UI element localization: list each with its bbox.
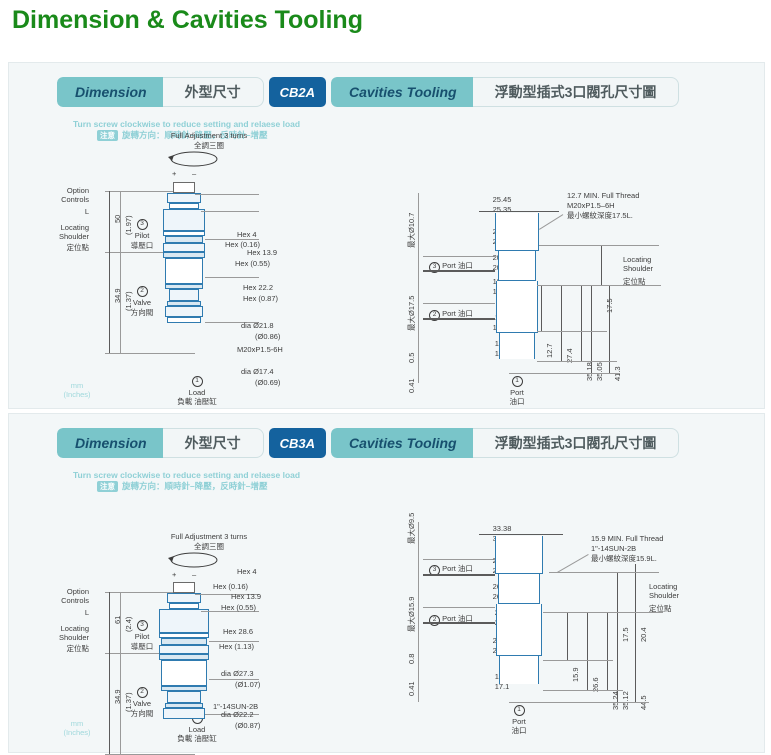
tab-group-dimension-cb3a[interactable]: Dimension 外型尺寸 (57, 428, 264, 458)
width1-max: 33.38 (477, 524, 527, 533)
leader-line (205, 277, 259, 278)
port1-en: Load (167, 725, 227, 734)
note-en: Turn screw clockwise to reduce setting a… (73, 119, 300, 129)
cavity-top-line (479, 534, 563, 535)
dim-line (607, 612, 608, 690)
dim-line (120, 592, 121, 653)
adjust-plus: + (172, 169, 176, 178)
port2-cn: 方向閥 (122, 709, 162, 718)
callout-hex139: Hex 13.9 (231, 592, 261, 601)
cavity-port1-cn: 油口 (492, 397, 542, 406)
adjust-minus: – (192, 169, 196, 178)
section-panel-cb2a: Dimension 外型尺寸 CB2A Cavities Tooling 浮動型… (8, 62, 765, 409)
tab-group-dimension-cb2a[interactable]: Dimension 外型尺寸 (57, 77, 264, 107)
cavity-port1-bubble: 1 (492, 375, 542, 387)
ext-line-shoulder (543, 612, 663, 613)
depth-175: 17.5 (621, 627, 630, 642)
cavity-locating-shoulder-cn: 定位點 (649, 604, 672, 613)
callout-thread: M20xP1.5-6H (237, 345, 283, 354)
dim-line (109, 653, 110, 754)
bore-mid-tol: 0.8 (407, 654, 416, 664)
cavity-step-3 (496, 604, 542, 656)
depth-3512: 35.12 (621, 691, 630, 710)
callout-dia273: dia Ø27.3 (221, 669, 254, 678)
port2-en: Valve (127, 699, 157, 708)
axis-line (418, 522, 419, 702)
page-title: Dimension & Cavities Tooling (12, 6, 363, 35)
port2-cn: 方向閥 (122, 308, 162, 317)
tab-dimension-cn[interactable]: 外型尺寸 (163, 77, 264, 107)
ext-line (537, 331, 607, 332)
depth-3518: 35.18 (585, 362, 594, 381)
cavity-step-3 (496, 281, 538, 333)
cavity-locating-shoulder-en: Locating Shoulder (649, 582, 679, 600)
section-panel-cb3a: Dimension 外型尺寸 CB3A Cavities Tooling 浮動型… (8, 413, 765, 753)
dim-line (120, 252, 121, 353)
dim-line (109, 592, 110, 653)
note-badge: 注意 (97, 481, 118, 492)
port1-bubble: 1 (182, 375, 212, 387)
callout-hex4: Hex 4 (237, 567, 257, 576)
bore-mid-tol: 0.5 (407, 353, 416, 363)
port2-bubble: 2 Port 油口 (429, 614, 473, 626)
cavity-step-4 (499, 656, 539, 684)
tab-model-code-cb3a[interactable]: CB3A (269, 428, 326, 458)
cavity-step-2 (498, 574, 540, 604)
port3-en: Pilot (127, 632, 157, 641)
port3-bubble: 3 (127, 619, 157, 631)
thread-note-cn: 最小螺紋深度17.5L. (567, 211, 633, 220)
cavity-locating-shoulder-en: Locating Shoulder (623, 255, 653, 273)
adjust-label-en: Full Adjustment 3 turns (149, 532, 269, 541)
bore-top-label: 最大Ø10.7 (407, 213, 416, 248)
callout-hex222-in: Hex (0.87) (243, 294, 278, 303)
dim-line (109, 252, 110, 353)
tab-cavities-en[interactable]: Cavities Tooling (331, 428, 473, 458)
note-cn-line: 注意旋轉方向：順時針–降壓，反時針–增壓 (97, 481, 300, 492)
note-cn: 旋轉方向：順時針–降壓，反時針–增壓 (122, 481, 267, 491)
ext-line (549, 572, 659, 573)
cavity-port1-cn: 油口 (494, 726, 544, 735)
callout-hex286-in: Hex (1.13) (219, 642, 254, 651)
callout-dia222-in: (Ø0.87) (235, 721, 260, 730)
ext-line (539, 245, 659, 246)
tab-cavities-cn[interactable]: 浮動型插式3口閥孔尺寸圖 (473, 77, 680, 107)
depth-159: 15.9 (571, 667, 580, 682)
ext-line (537, 361, 617, 362)
locating-shoulder-cn: 定位點 (21, 644, 89, 653)
note-badge: 注意 (97, 130, 118, 141)
callout-dia222: dia Ø22.2 (221, 710, 254, 719)
dim-line (591, 285, 592, 373)
port3-cn: 導壓口 (122, 241, 162, 250)
cavity-step-1 (495, 536, 543, 574)
port1-cn: 負載 油壓缸 (157, 397, 237, 406)
port2-en: Valve (127, 298, 157, 307)
locating-shoulder-en: Locating Shoulder (21, 624, 89, 642)
callout-hex286: Hex 28.6 (223, 627, 253, 636)
ext-line (543, 690, 623, 691)
callout-dia174: dia Ø17.4 (241, 367, 274, 376)
cavity-port1-bubble: 1 (494, 704, 544, 716)
tab-model-code-cb2a[interactable]: CB2A (269, 77, 326, 107)
depth-204: 20.4 (639, 627, 648, 642)
callout-dia218-in: (Ø0.86) (255, 332, 280, 341)
units-mm: mm (57, 381, 97, 390)
tabbar-cb2a: Dimension 外型尺寸 CB2A Cavities Tooling 浮動型… (57, 77, 679, 107)
callout-hex4: Hex 4 (237, 230, 257, 239)
tab-group-cavities-cb2a[interactable]: Cavities Tooling 浮動型插式3口閥孔尺寸圖 (331, 77, 679, 107)
callout-dia218: dia Ø21.8 (241, 321, 274, 330)
dim-line (120, 653, 121, 754)
locating-shoulder-en: Locating Shoulder (21, 223, 89, 241)
port3-cn: 導壓口 (122, 642, 162, 651)
tab-dimension-en[interactable]: Dimension (57, 77, 163, 107)
callout-hex4-in: Hex (0.16) (213, 582, 248, 591)
thread-note-en: 15.9 MIN. Full Thread (591, 534, 663, 543)
dim-line (567, 612, 568, 660)
callout-hex139-in: Hex (0.55) (235, 259, 270, 268)
adjust-label-en: Full Adjustment 3 turns (149, 131, 269, 140)
tab-group-cavities-cb3a[interactable]: Cavities Tooling 浮動型插式3口閥孔尺寸圖 (331, 428, 679, 458)
tab-dimension-cn[interactable]: 外型尺寸 (163, 428, 264, 458)
depth-127: 12.7 (545, 343, 554, 358)
ext-line (509, 373, 619, 374)
note-en: Turn screw clockwise to reduce setting a… (73, 470, 300, 480)
cavity-top-line (479, 211, 559, 212)
units-inches: (Inches) (57, 390, 97, 399)
dim-line (635, 612, 636, 702)
adjust-label-cn: 全調三圈 (149, 141, 269, 150)
adjust-plus: + (172, 570, 176, 579)
cavity-step-2 (498, 251, 536, 281)
port1-cn: 負載 油壓缸 (157, 734, 237, 743)
thread-spec: M20xP1.5–6H (567, 201, 615, 210)
dim-line (541, 285, 542, 331)
option-controls-l: L (29, 207, 89, 216)
tab-dimension-en[interactable]: Dimension (57, 428, 163, 458)
bore-top-label: 最大Ø9.5 (407, 513, 416, 544)
dim-line (109, 191, 110, 252)
cavity-port1-en: Port (492, 388, 542, 397)
adjust-minus: – (192, 570, 196, 579)
dim-line (561, 285, 562, 361)
ext-line (543, 660, 613, 661)
ext-line (423, 303, 495, 304)
note-cb3a: Turn screw clockwise to reduce setting a… (73, 470, 300, 492)
bore-bot-tol: 0.41 (407, 378, 416, 393)
ext-line (509, 702, 649, 703)
leader-line (557, 554, 589, 573)
option-controls-label: Option Controls (29, 186, 89, 204)
callout-dia273-in: (Ø1.07) (235, 680, 260, 689)
ext-line (105, 353, 195, 354)
callout-hex139-in: Hex (0.55) (221, 603, 256, 612)
tab-cavities-en[interactable]: Cavities Tooling (331, 77, 473, 107)
callout-hex139: Hex 13.9 (247, 248, 277, 257)
port1-en: Load (167, 388, 227, 397)
port2-bubble: 2 (127, 285, 157, 297)
tab-cavities-cn[interactable]: 浮動型插式3口閥孔尺寸圖 (473, 428, 680, 458)
cavity-step-4 (499, 333, 535, 359)
option-controls-label: Option Controls (29, 587, 89, 605)
bore-mid-label: 最大Ø15.9 (407, 597, 416, 632)
depth-3505: 35.05 (595, 362, 604, 381)
locating-shoulder-cn: 定位點 (21, 243, 89, 252)
units-inches: (Inches) (57, 728, 97, 737)
callout-dia174-in: (Ø0.69) (255, 378, 280, 387)
leader-line (195, 194, 259, 195)
thread-note-en: 12.7 MIN. Full Thread (567, 191, 639, 200)
width1-max: 25.45 (477, 195, 527, 204)
units-mm: mm (57, 719, 97, 728)
thread-spec: 1"-14SUN-2B (591, 544, 636, 553)
port3-en: Pilot (127, 231, 157, 240)
leader-line (201, 211, 259, 212)
port3-bubble: 3 (127, 218, 157, 230)
dim-line (581, 285, 582, 361)
dim-line (601, 245, 602, 285)
option-controls-l: L (29, 608, 89, 617)
bore-bot-tol: 0.41 (407, 681, 416, 696)
cavity-port1-en: Port (494, 717, 544, 726)
adjust-label-cn: 全調三圈 (149, 542, 269, 551)
dim-line (617, 612, 618, 702)
dim-line (609, 285, 610, 373)
tabbar-cb3a: Dimension 外型尺寸 CB3A Cavities Tooling 浮動型… (57, 428, 679, 458)
depth-3524: 35.24 (611, 691, 620, 710)
axis-line (418, 193, 419, 383)
dim-line (120, 191, 121, 252)
cavity-step-1 (495, 213, 539, 251)
cavity-locating-shoulder-cn: 定位點 (623, 277, 646, 286)
dim-line (587, 612, 588, 690)
bore-mid-label: 最大Ø17.5 (407, 296, 416, 331)
leader-line (539, 214, 563, 230)
callout-hex222: Hex 22.2 (243, 283, 273, 292)
dim-line (617, 572, 618, 612)
thread-note-cn: 最小螺紋深度15.9L. (591, 554, 657, 563)
port2-bubble: 2 (127, 686, 157, 698)
